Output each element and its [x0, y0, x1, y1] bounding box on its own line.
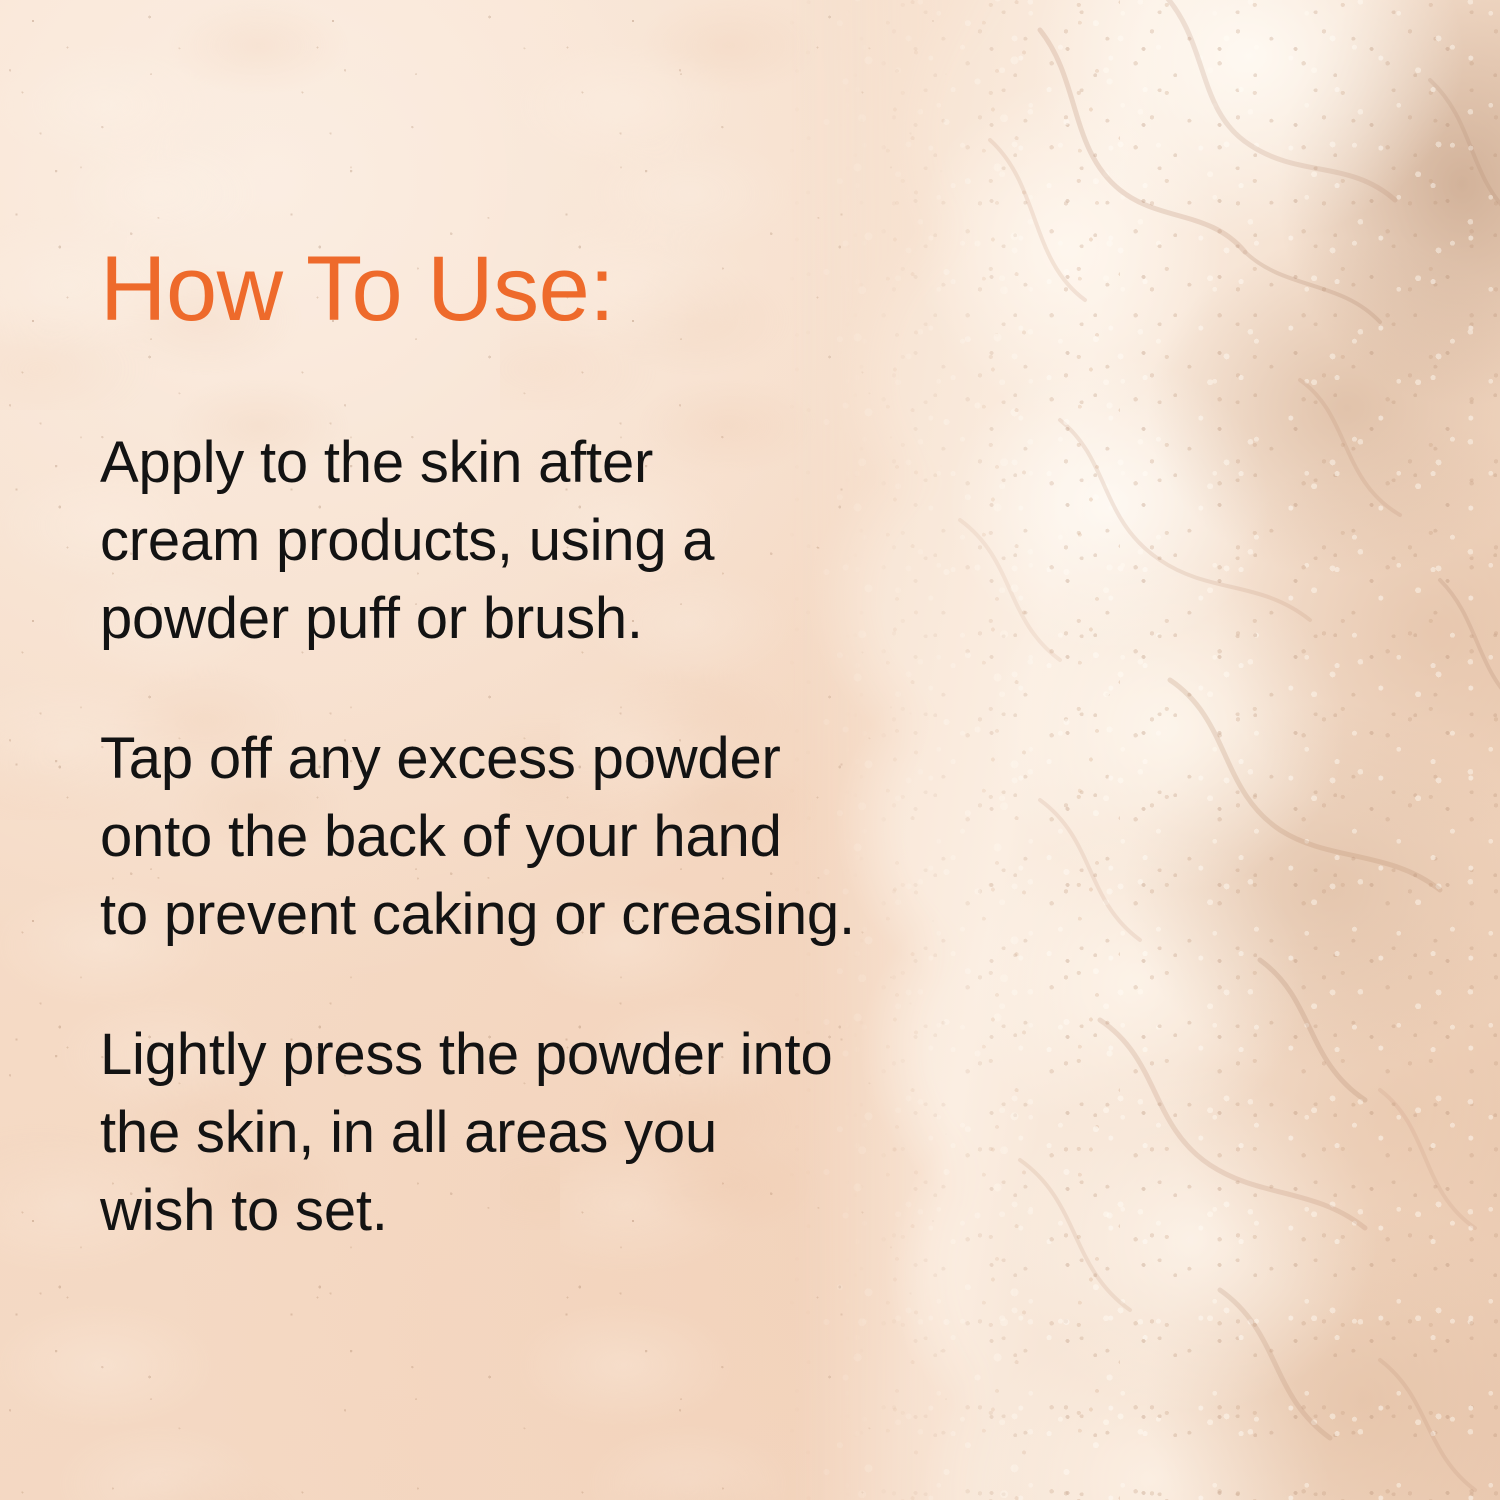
- instruction-line: Apply to the skin after: [100, 424, 980, 502]
- instruction-line: cream products, using a: [100, 502, 980, 580]
- instruction-line: Lightly press the powder into: [100, 1016, 980, 1094]
- instruction-line: wish to set.: [100, 1172, 980, 1250]
- instructions-list: Apply to the skin after cream products, …: [100, 424, 980, 1250]
- instruction-step-tap-off: Tap off any excess powder onto the back …: [100, 720, 980, 954]
- instruction-line: onto the back of your hand: [100, 798, 980, 876]
- instruction-line: Tap off any excess powder: [100, 720, 980, 798]
- instruction-step-press: Lightly press the powder into the skin, …: [100, 1016, 980, 1250]
- instruction-line: the skin, in all areas you: [100, 1094, 980, 1172]
- text-content: How To Use: Apply to the skin after crea…: [100, 0, 980, 1500]
- instruction-line: to prevent caking or creasing.: [100, 876, 980, 954]
- how-to-use-graphic: How To Use: Apply to the skin after crea…: [0, 0, 1500, 1500]
- instruction-step-apply: Apply to the skin after cream products, …: [100, 424, 980, 658]
- instruction-line: powder puff or brush.: [100, 580, 980, 658]
- page-title: How To Use:: [100, 243, 614, 335]
